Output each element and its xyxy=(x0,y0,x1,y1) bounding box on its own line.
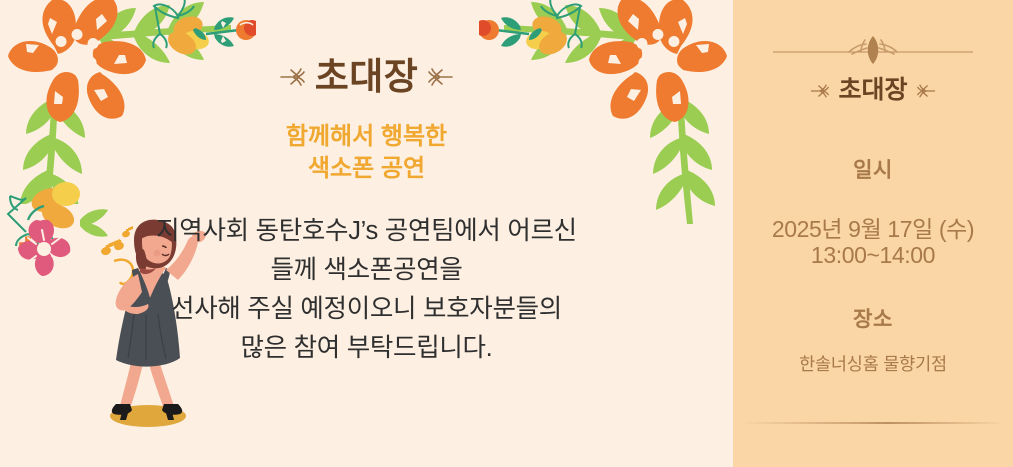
page-title: 초대장 xyxy=(315,58,419,95)
sidebar-bottom-divider xyxy=(741,422,1005,424)
flourish-right-icon xyxy=(428,66,454,88)
date-value: 2025년 9월 17일 (수) 13:00~14:00 xyxy=(772,217,974,269)
place-value: 한솔너싱홈 물향기점 xyxy=(799,351,947,376)
place-label: 장소 xyxy=(853,303,893,333)
main-text-block: 초대장 함께해서 행복한 색소폰 공연 xyxy=(0,0,733,467)
sidebar-ornament-icon xyxy=(773,32,973,66)
sidebar-flourish-left-icon xyxy=(810,83,829,99)
body-line-3: 선사해 주실 예정이오니 보호자분들의 xyxy=(47,290,687,329)
details-sidebar: 초대장 일시 2025년 9월 17일 (수) 13:00~14:00 장소 한… xyxy=(733,0,1013,467)
main-body-text: 지역사회 동탄호수J’s 공연팀에서 어르신 들께 색소폰공연을 선사해 주실 … xyxy=(47,212,687,367)
main-subtitle-line-2: 색소폰 공연 xyxy=(286,153,447,185)
main-subtitle: 함께해서 행복한 색소폰 공연 xyxy=(286,121,447,184)
main-title-row: 초대장 xyxy=(279,58,455,95)
sidebar-title: 초대장 xyxy=(838,78,907,103)
sidebar-flourish-right-icon xyxy=(917,83,936,99)
body-line-2: 들께 색소폰공연을 xyxy=(47,251,687,290)
main-subtitle-line-1: 함께해서 행복한 xyxy=(286,121,447,153)
flourish-left-icon xyxy=(279,66,305,88)
body-line-4: 많은 참여 부탁드립니다. xyxy=(47,329,687,368)
main-panel: 초대장 함께해서 행복한 색소폰 공연 xyxy=(0,0,733,467)
body-line-1: 지역사회 동탄호수J’s 공연팀에서 어르신 xyxy=(47,212,687,251)
invitation-card: 초대장 함께해서 행복한 색소폰 공연 xyxy=(0,0,1013,467)
date-label: 일시 xyxy=(853,154,893,184)
sidebar-title-row: 초대장 xyxy=(810,78,935,103)
